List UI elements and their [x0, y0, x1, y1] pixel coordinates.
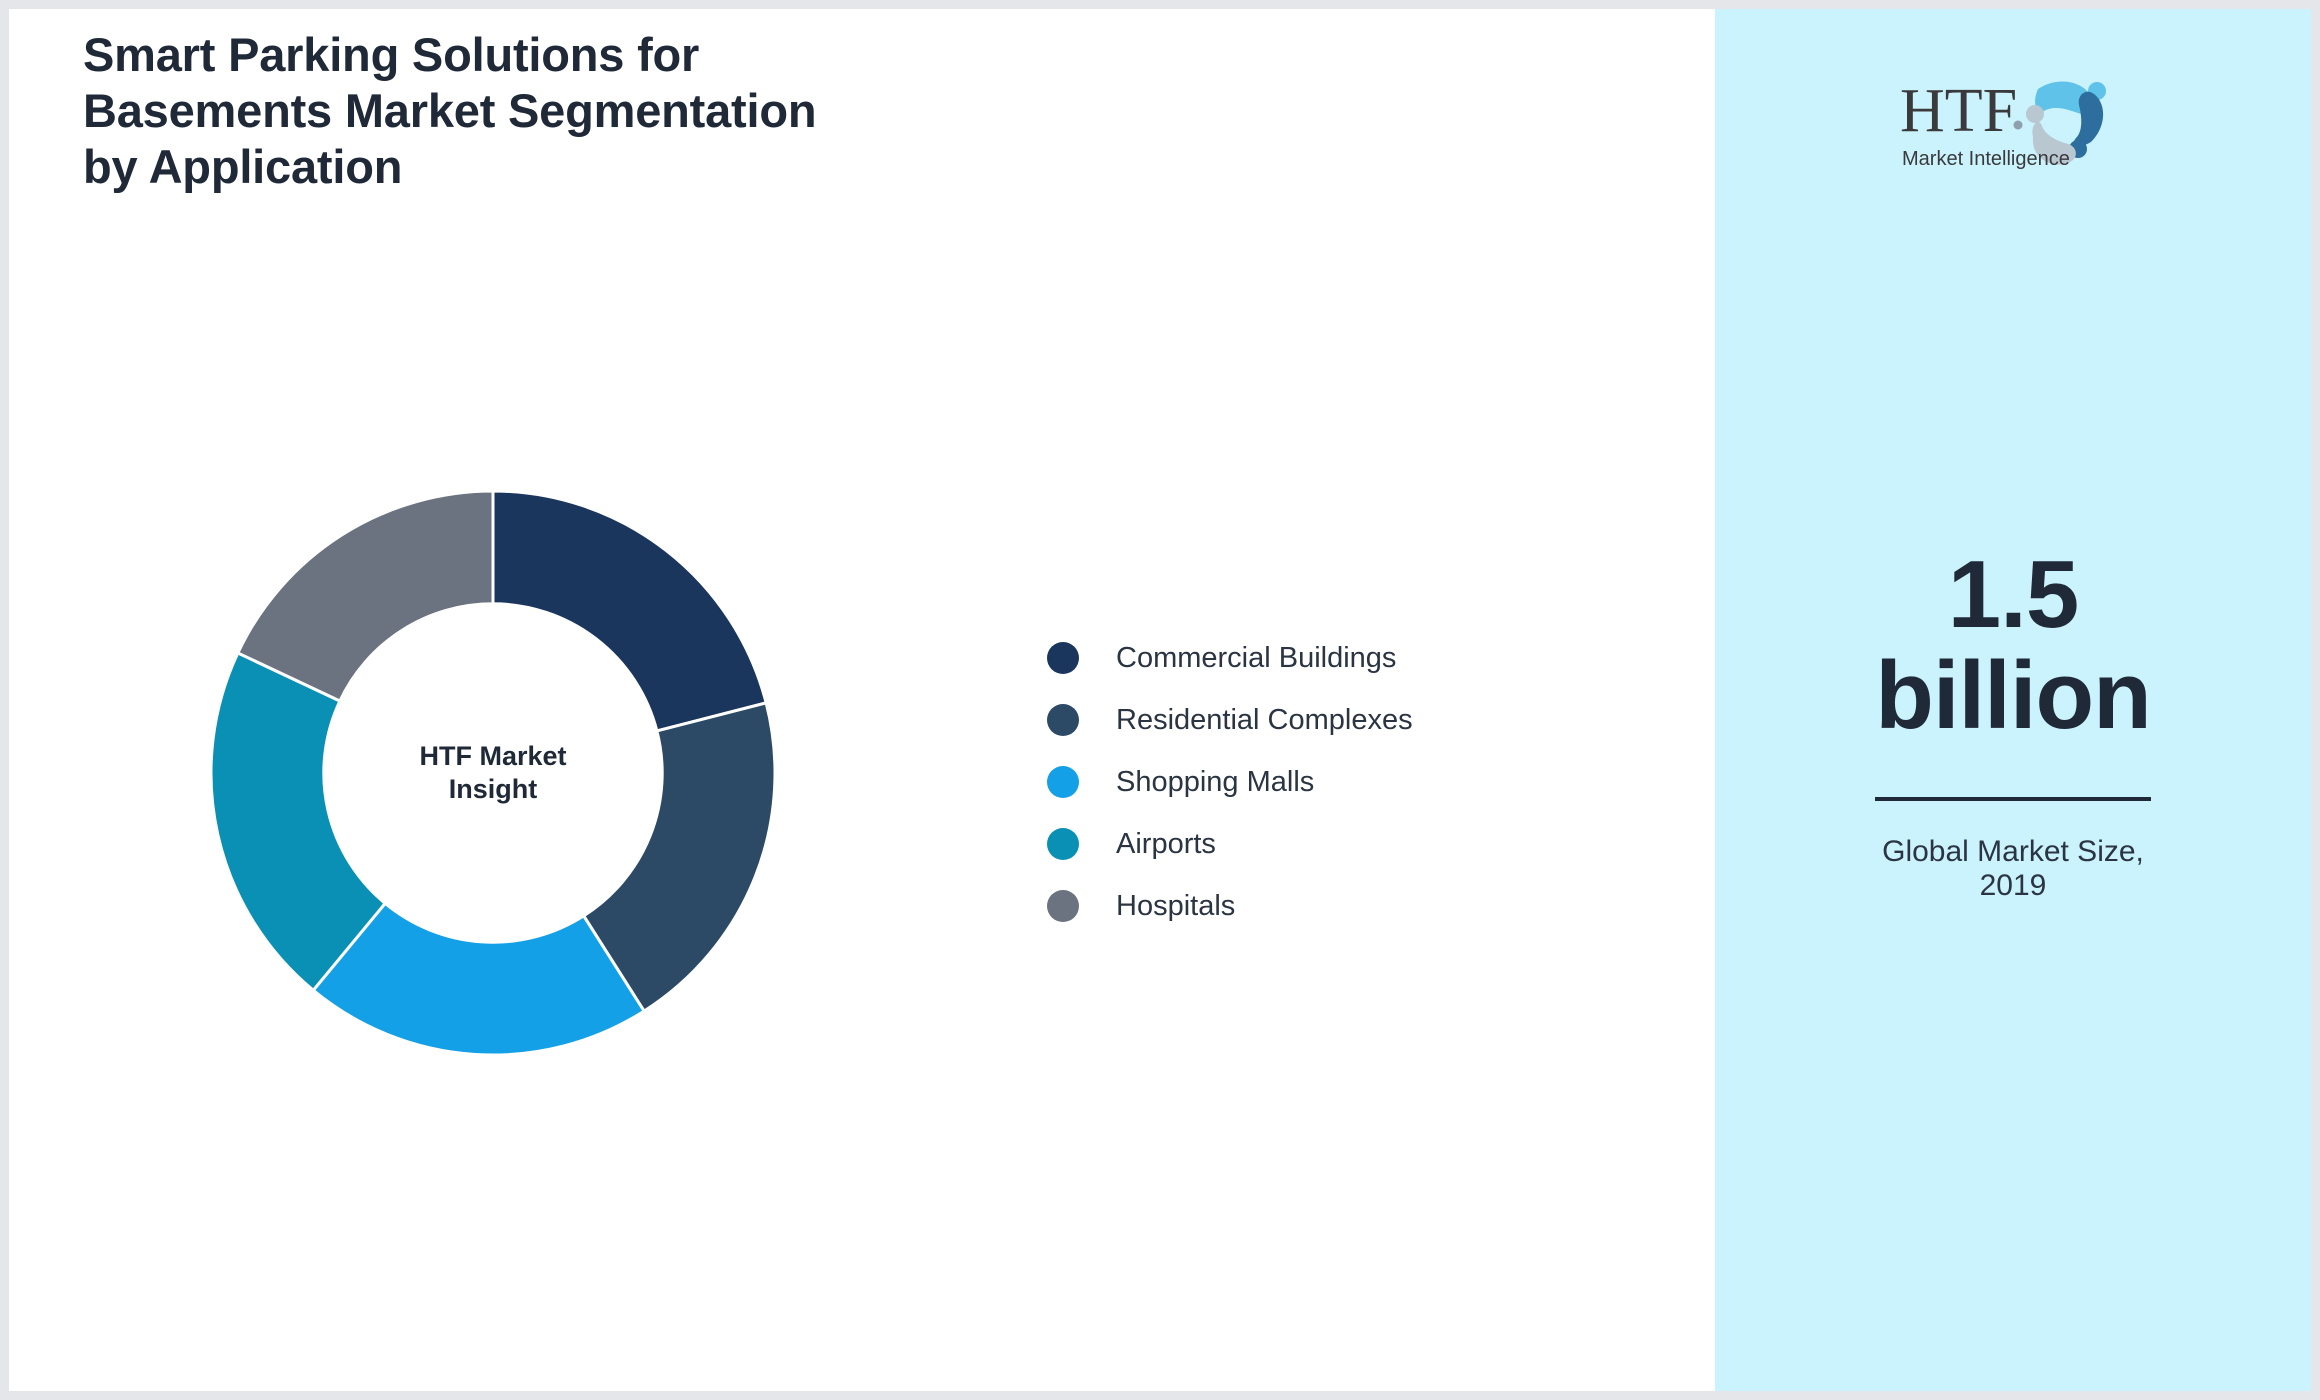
stat-caption-line-1: Global Market Size,: [1715, 835, 2311, 870]
donut-chart-svg: [205, 485, 781, 1061]
market-size-stat: 1.5 billion Global Market Size, 2019: [1715, 545, 2311, 904]
right-highlight-panel: HTF Market Intelligence 1.5 bil: [1715, 9, 2311, 1391]
stat-value-line-1: 1.5: [1715, 545, 2311, 646]
logo-tagline-text: Market Intelligence: [1902, 148, 2070, 170]
legend-item-hospitals[interactable]: Hospitals: [1047, 875, 1413, 937]
htf-market-intelligence-logo: HTF Market Intelligence: [1888, 61, 2138, 173]
stat-value: 1.5 billion: [1715, 545, 2311, 747]
logo-wordmark-text: HTF: [1900, 77, 2017, 145]
legend-swatch-icon: [1047, 828, 1079, 860]
page-title-line-2: Basements Market Segmentation: [83, 87, 1083, 134]
donut-slice-hospitals[interactable]: [238, 491, 493, 701]
infographic-canvas: Smart Parking Solutions for Basements Ma…: [0, 0, 2320, 1400]
stat-caption: Global Market Size, 2019: [1715, 835, 2311, 905]
logo-svg: HTF Market Intelligence: [1888, 61, 2138, 173]
page-title-line-1: Smart Parking Solutions for: [83, 31, 1083, 78]
stat-caption-line-2: 2019: [1715, 869, 2311, 904]
stat-value-line-2: billion: [1715, 646, 2311, 747]
legend-swatch-icon: [1047, 704, 1079, 736]
donut-slice-group: [211, 491, 775, 1055]
legend-item-label: Hospitals: [1116, 890, 1235, 923]
page-title-line-3: by Application: [83, 143, 1083, 190]
chart-legend: Commercial BuildingsResidential Complexe…: [1047, 627, 1413, 937]
legend-item-label: Shopping Malls: [1116, 766, 1314, 799]
legend-swatch-icon: [1047, 642, 1079, 674]
donut-slice-commercial-buildings[interactable]: [493, 491, 766, 731]
legend-item-label: Commercial Buildings: [1116, 642, 1396, 675]
logo-dot-icon: [2014, 121, 2023, 130]
page-title: Smart Parking Solutions for Basements Ma…: [83, 31, 1083, 199]
legend-item-residential-complexes[interactable]: Residential Complexes: [1047, 689, 1413, 751]
donut-chart: HTF Market Insight: [205, 485, 781, 1061]
stat-divider: [1875, 797, 2151, 801]
legend-item-shopping-malls[interactable]: Shopping Malls: [1047, 751, 1413, 813]
legend-item-airports[interactable]: Airports: [1047, 813, 1413, 875]
legend-item-label: Airports: [1116, 828, 1216, 861]
legend-item-commercial-buildings[interactable]: Commercial Buildings: [1047, 627, 1413, 689]
legend-swatch-icon: [1047, 766, 1079, 798]
legend-item-label: Residential Complexes: [1116, 704, 1413, 737]
legend-swatch-icon: [1047, 890, 1079, 922]
left-content-panel: Smart Parking Solutions for Basements Ma…: [9, 9, 1715, 1391]
